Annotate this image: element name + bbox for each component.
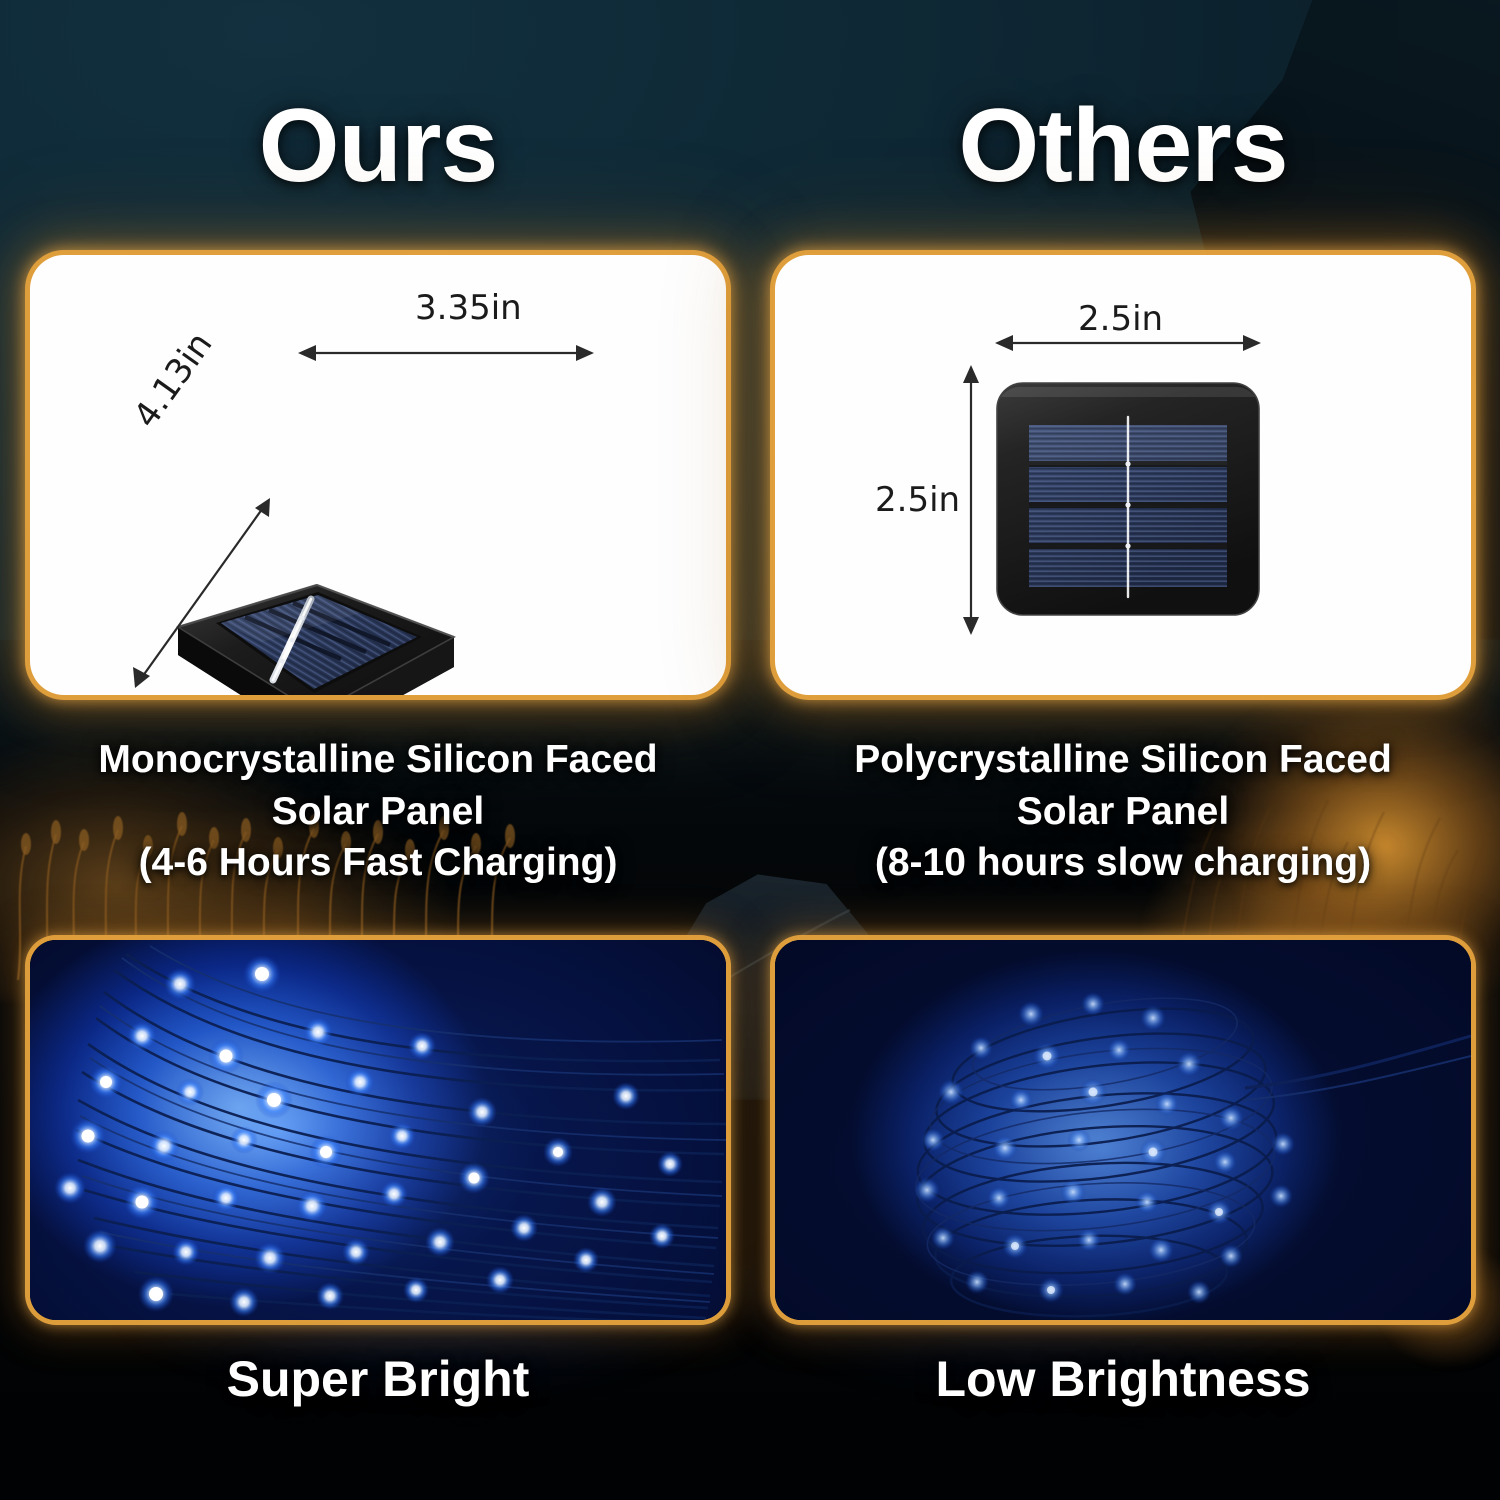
caption-ours: Monocrystalline Silicon Faced Solar Pane… bbox=[30, 735, 726, 895]
heading-others: Others bbox=[775, 86, 1471, 206]
led-photo-ours bbox=[30, 940, 726, 1320]
led-photo-ours-image bbox=[30, 940, 726, 1320]
heading-ours: Ours bbox=[30, 86, 726, 206]
caption-ours-line-2: Solar Panel bbox=[272, 787, 484, 837]
caption-others-line-2: Solar Panel bbox=[1017, 787, 1229, 837]
caption-ours-line-1: Monocrystalline Silicon Faced bbox=[98, 735, 657, 785]
caption-others-line-1: Polycrystalline Silicon Faced bbox=[854, 735, 1392, 785]
photo-caption-others: Low Brightness bbox=[775, 1348, 1471, 1410]
dimension-label-width-others: 2.5in bbox=[1078, 299, 1163, 339]
solar-panel-illustration-ours bbox=[30, 255, 726, 695]
caption-ours-line-3: (4-6 Hours Fast Charging) bbox=[139, 838, 618, 888]
caption-others: Polycrystalline Silicon Faced Solar Pane… bbox=[775, 735, 1471, 895]
led-photo-others-image bbox=[775, 940, 1471, 1320]
led-strands-bright bbox=[30, 940, 726, 1320]
spec-card-ours: 3.35in 4.13in bbox=[30, 255, 726, 695]
led-photo-others bbox=[775, 940, 1471, 1320]
comparison-infographic: Ours Others bbox=[0, 0, 1500, 1500]
caption-others-line-3: (8-10 hours slow charging) bbox=[875, 838, 1371, 888]
led-strands-dim bbox=[775, 940, 1471, 1320]
dimension-label-height-others: 2.5in bbox=[875, 480, 960, 520]
photo-caption-ours: Super Bright bbox=[30, 1348, 726, 1410]
spec-card-others: 2.5in 2.5in bbox=[775, 255, 1471, 695]
dimension-label-width-ours: 3.35in bbox=[415, 288, 522, 328]
